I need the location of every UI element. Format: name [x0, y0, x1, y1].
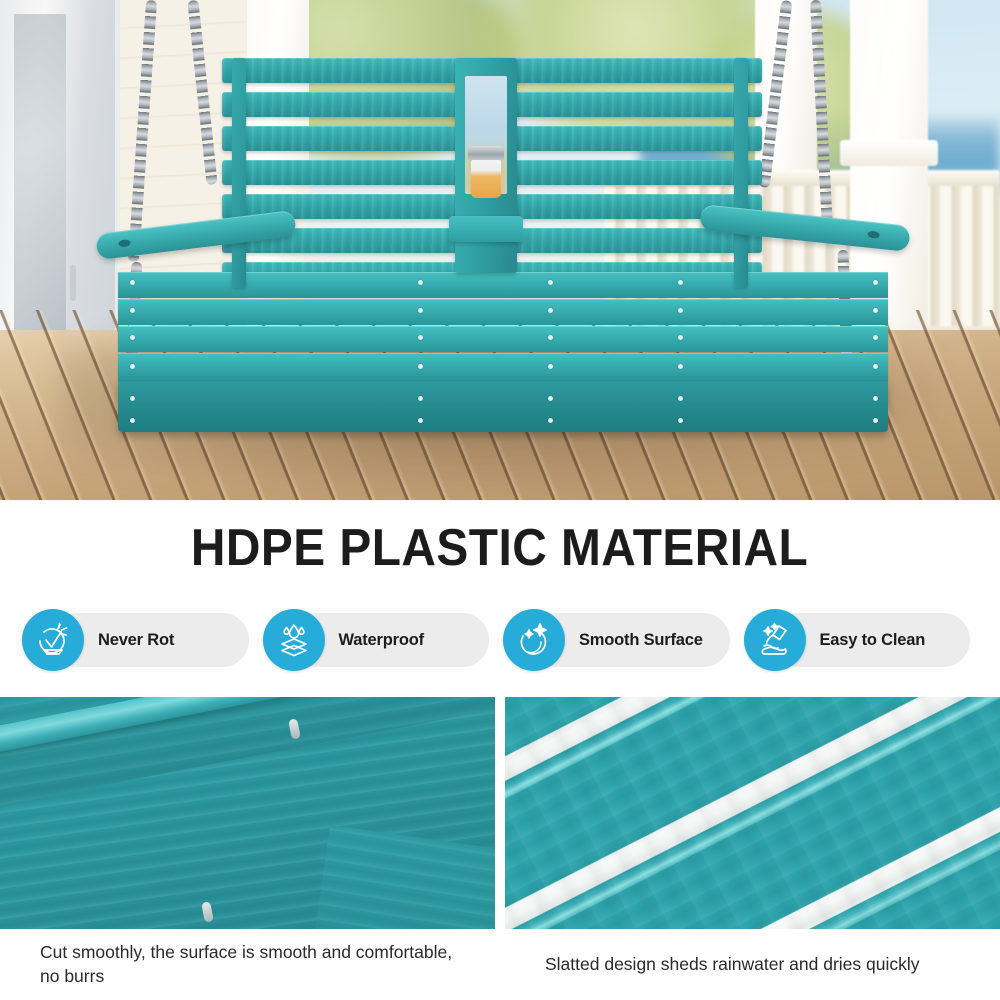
screw-icon	[873, 364, 878, 369]
screw-icon	[130, 396, 135, 401]
detail-right-photo	[505, 697, 1000, 929]
screw-icon	[548, 418, 553, 423]
screw-icon	[678, 396, 683, 401]
console-cup-holder	[449, 216, 523, 242]
seat-plank	[118, 326, 888, 352]
armrest-chain-hole	[118, 239, 131, 247]
slat-pattern	[505, 697, 1000, 929]
badge-label: Never Rot	[98, 631, 174, 650]
feature-badge-row: Never Rot Waterproof	[0, 602, 1000, 678]
screw-icon	[418, 396, 423, 401]
seat-plank	[118, 353, 888, 380]
detail-left-photo	[0, 697, 495, 929]
hand-wipe-sparkle-icon	[744, 609, 806, 671]
screw-icon	[548, 335, 553, 340]
screw-icon	[873, 280, 878, 285]
coffee-cup	[469, 146, 503, 198]
screw-icon	[130, 335, 135, 340]
title-band: HDPE PLASTIC MATERIAL	[0, 500, 1000, 595]
screw-icon	[548, 396, 553, 401]
badge-label: Smooth Surface	[579, 631, 703, 650]
cup-lid	[468, 146, 504, 161]
feature-badge-waterproof[interactable]: Waterproof	[263, 609, 498, 671]
screw-icon	[418, 308, 423, 313]
screw-icon	[548, 364, 553, 369]
feature-badge-easy-to-clean[interactable]: Easy to Clean	[744, 609, 979, 671]
screw-icon	[873, 396, 878, 401]
screw-icon	[548, 280, 553, 285]
slat-grain-texture-cross	[505, 697, 1000, 929]
screw-icon	[678, 364, 683, 369]
seat-plank	[118, 299, 888, 325]
screw-icon	[678, 418, 683, 423]
detail-panel-row: Cut smoothly, the surface is smooth and …	[0, 697, 1000, 1000]
detail-caption: Cut smoothly, the surface is smooth and …	[0, 929, 495, 1000]
swing-seat	[118, 272, 888, 432]
screw-icon	[873, 418, 878, 423]
sprout-check-icon	[22, 609, 84, 671]
detail-panel-smooth-cut: Cut smoothly, the surface is smooth and …	[0, 697, 495, 1000]
feature-badge-smooth-surface[interactable]: Smooth Surface	[503, 609, 738, 671]
screw-icon	[418, 364, 423, 369]
detail-photo-slats	[505, 697, 1000, 929]
screw-icon	[130, 308, 135, 313]
screw-icon	[548, 308, 553, 313]
armrest-chain-hole	[867, 231, 880, 239]
screw-icon	[873, 335, 878, 340]
seat-front-edge	[118, 380, 888, 432]
screw-icon	[678, 280, 683, 285]
feature-badge-never-rot[interactable]: Never Rot	[22, 609, 257, 671]
porch-swing	[0, 0, 1000, 500]
page-title: HDPE PLASTIC MATERIAL	[191, 518, 808, 578]
hanging-chain-icon	[187, 0, 217, 185]
screw-icon	[418, 418, 423, 423]
backrest-stile	[734, 58, 748, 288]
detail-photo-rounded-edge	[0, 697, 495, 929]
screw-icon	[678, 308, 683, 313]
screw-icon	[130, 280, 135, 285]
badge-label: Waterproof	[339, 631, 424, 650]
hero-product-photo	[0, 0, 1000, 500]
center-console	[455, 58, 517, 273]
water-drop-layers-icon	[263, 609, 325, 671]
screw-icon	[873, 308, 878, 313]
sparkle-circle-icon	[503, 609, 565, 671]
screw-icon	[418, 280, 423, 285]
detail-caption: Slatted design sheds rainwater and dries…	[505, 929, 1000, 1000]
screw-icon	[418, 335, 423, 340]
infographic-page: HDPE PLASTIC MATERIAL Never Rot	[0, 0, 1000, 1000]
backrest-stile	[232, 58, 246, 288]
detail-panel-slatted-design: Slatted design sheds rainwater and dries…	[505, 697, 1000, 1000]
screw-icon	[678, 335, 683, 340]
screw-icon	[130, 418, 135, 423]
cup-body	[471, 160, 501, 198]
badge-label: Easy to Clean	[820, 631, 926, 650]
screw-icon	[130, 364, 135, 369]
hanging-chain-icon	[128, 0, 157, 262]
hanging-chain-icon	[759, 0, 793, 188]
hanging-chain-icon	[810, 0, 833, 228]
